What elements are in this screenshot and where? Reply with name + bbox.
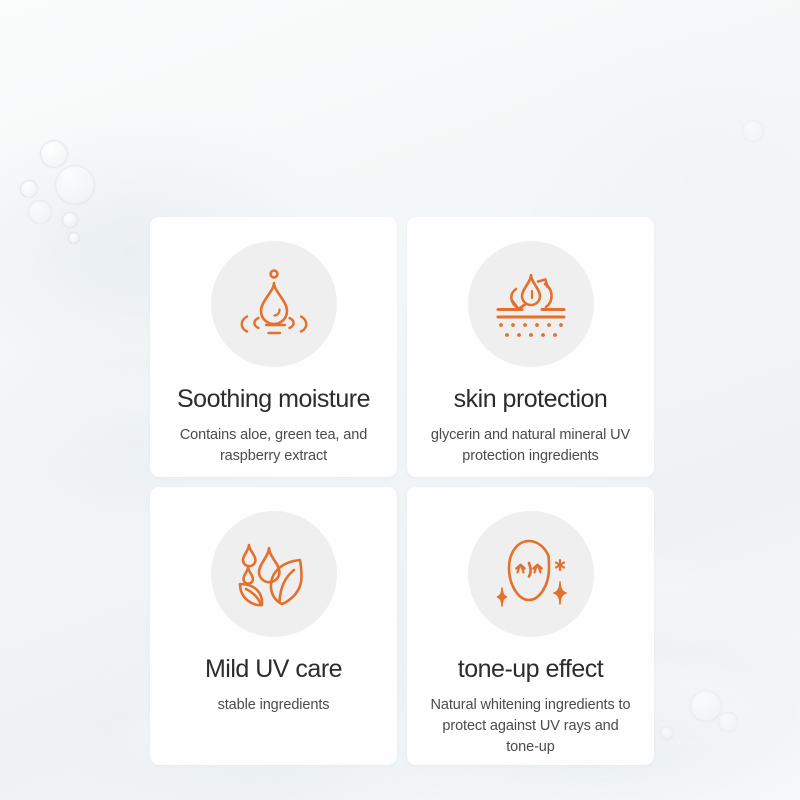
glowing-face-sparkle-icon [488, 532, 574, 616]
card-title: tone-up effect [458, 656, 603, 684]
card-description: Natural whitening ingredients to protect… [428, 695, 633, 758]
card-title: skin protection [454, 386, 608, 414]
background-bubble [660, 726, 674, 740]
icon-circle [468, 511, 594, 637]
feature-card-tone-up-effect: tone-up effect Natural whitening ingredi… [407, 487, 654, 765]
card-description: glycerin and natural mineral UV protecti… [423, 425, 638, 467]
icon-circle [468, 241, 594, 367]
leaf-droplet-plant-icon [232, 532, 316, 616]
product-feature-page: ORIOX ALLDAY SUNCREAM PLUS Powerful Dail… [0, 0, 800, 800]
water-droplet-ripple-icon [233, 263, 315, 345]
feature-card-soothing-moisture: Soothing moisture Contains aloe, green t… [150, 217, 397, 477]
feature-card-mild-uv-care: Mild UV care stable ingredients [150, 487, 397, 765]
background-bubble [55, 165, 95, 205]
skin-barrier-protection-icon [488, 263, 574, 345]
card-description: stable ingredients [218, 695, 330, 716]
background-bubble [718, 712, 738, 732]
background-bubble [742, 120, 764, 142]
card-title: Soothing moisture [177, 386, 370, 414]
card-title: Mild UV care [205, 656, 342, 684]
background-bubble [40, 140, 68, 168]
feature-card-skin-protection: skin protection glycerin and natural min… [407, 217, 654, 477]
background-bubble [690, 690, 722, 722]
background-bubble [28, 200, 52, 224]
background-bubble [62, 212, 78, 228]
icon-circle [211, 511, 337, 637]
feature-card-grid: Soothing moisture Contains aloe, green t… [150, 217, 654, 765]
background-bubble [68, 232, 80, 244]
card-description: Contains aloe, green tea, and raspberry … [166, 425, 381, 467]
background-bubble [20, 180, 38, 198]
icon-circle [211, 241, 337, 367]
